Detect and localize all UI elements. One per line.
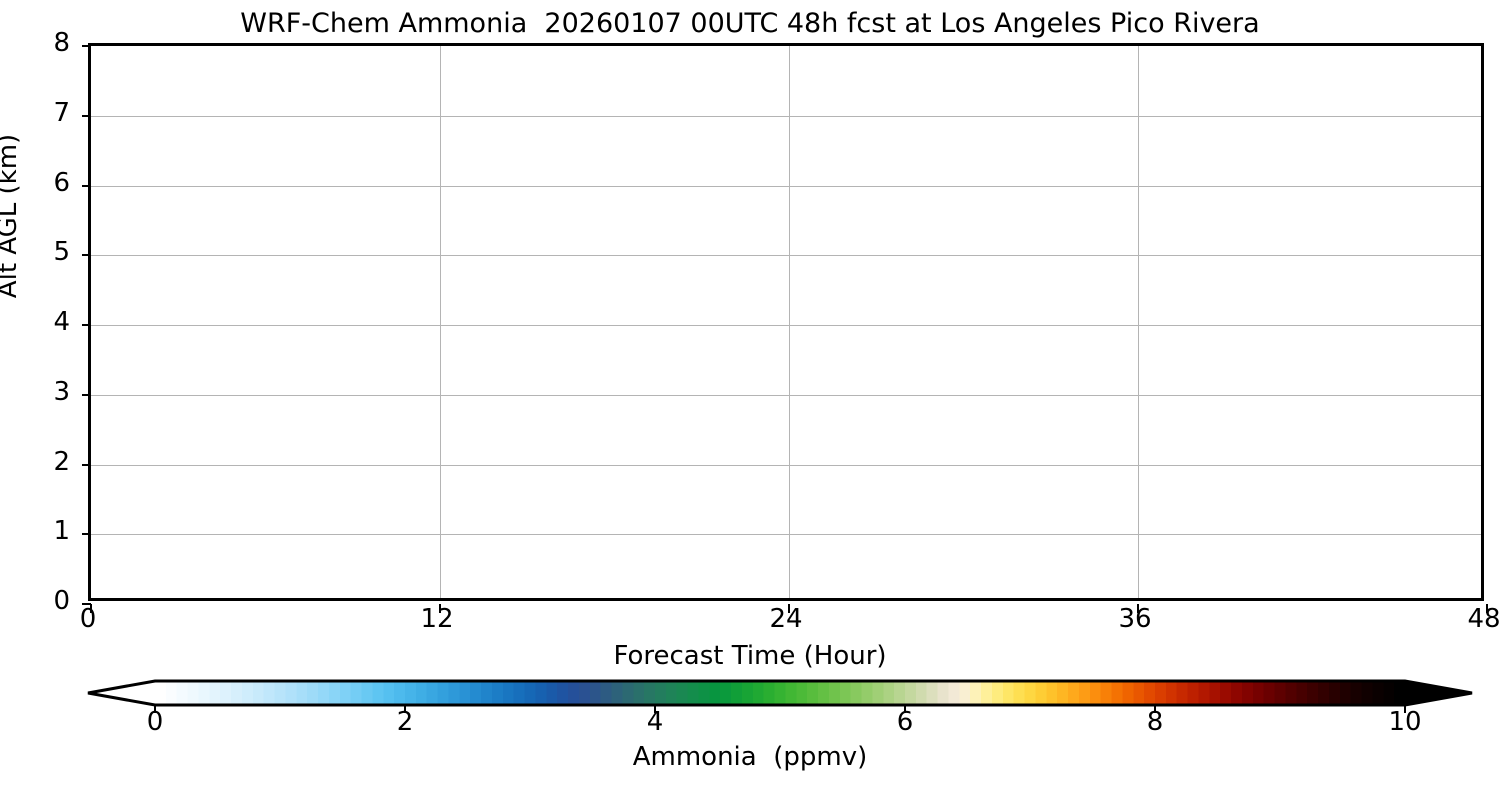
colorbar-band (1220, 681, 1231, 705)
colorbar-band (372, 681, 383, 705)
colorbar-band (568, 681, 579, 705)
colorbar-band (1198, 681, 1209, 705)
colorbar-band (166, 681, 177, 705)
y-tick-mark (82, 533, 91, 535)
colorbar-band (796, 681, 807, 705)
x-tick-label: 24 (736, 606, 836, 632)
colorbar-band (427, 681, 438, 705)
colorbar-band (1231, 681, 1242, 705)
colorbar-band (1296, 681, 1307, 705)
colorbar-extend-low-icon (88, 681, 155, 705)
colorbar-band (1394, 681, 1405, 705)
colorbar-band (612, 681, 623, 705)
colorbar-band (1318, 681, 1329, 705)
colorbar-band (209, 681, 220, 705)
y-tick-mark (82, 45, 91, 47)
colorbar-band (438, 681, 449, 705)
colorbar-band (557, 681, 568, 705)
colorbar-band (514, 681, 525, 705)
colorbar-band (1188, 681, 1199, 705)
colorbar-band (905, 681, 916, 705)
y-tick-mark (82, 464, 91, 466)
colorbar-band (296, 681, 307, 705)
colorbar-band (807, 681, 818, 705)
colorbar-band (622, 681, 633, 705)
x-tick-label: 36 (1085, 606, 1185, 632)
colorbar-band (1101, 681, 1112, 705)
colorbar-tick-label: 2 (355, 709, 455, 735)
colorbar-band (927, 681, 938, 705)
colorbar-band (231, 681, 242, 705)
colorbar-tick-label: 8 (1105, 709, 1205, 735)
colorbar-band (753, 681, 764, 705)
colorbar-band (698, 681, 709, 705)
grid-line-horizontal (91, 325, 1481, 326)
grid-line-horizontal (91, 116, 1481, 117)
colorbar-band (535, 681, 546, 705)
colorbar-band (970, 681, 981, 705)
x-tick-label: 48 (1434, 606, 1500, 632)
colorbar-band (1155, 681, 1166, 705)
colorbar-band (1090, 681, 1101, 705)
colorbar-band (329, 681, 340, 705)
colorbar-band (503, 681, 514, 705)
colorbar-band (405, 681, 416, 705)
colorbar-band (1264, 681, 1275, 705)
colorbar-band (1079, 681, 1090, 705)
y-tick-mark (82, 394, 91, 396)
colorbar-band (492, 681, 503, 705)
colorbar-band (1144, 681, 1155, 705)
x-tick-label: 0 (38, 606, 138, 632)
colorbar-band (1329, 681, 1340, 705)
colorbar-band (1046, 681, 1057, 705)
colorbar-label: Ammonia (ppmv) (0, 743, 1500, 771)
colorbar-band (340, 681, 351, 705)
colorbar-band (470, 681, 481, 705)
colorbar-band (883, 681, 894, 705)
colorbar-band (764, 681, 775, 705)
page-title: WRF-Chem Ammonia 20260107 00UTC 48h fcst… (0, 8, 1500, 40)
colorbar-band (362, 681, 373, 705)
colorbar-tick-label: 10 (1355, 709, 1455, 735)
colorbar-band (938, 681, 949, 705)
colorbar-band (742, 681, 753, 705)
x-axis-label: Forecast Time (Hour) (0, 642, 1500, 670)
colorbar-band (155, 681, 166, 705)
grid-line-vertical (789, 46, 790, 598)
colorbar-tick-label: 4 (605, 709, 705, 735)
colorbar-band (981, 681, 992, 705)
colorbar-band (590, 681, 601, 705)
y-tick-label: 2 (10, 449, 70, 475)
colorbar-band (525, 681, 536, 705)
colorbar-band (644, 681, 655, 705)
colorbar-band (655, 681, 666, 705)
grid-line-horizontal (91, 395, 1481, 396)
figure-canvas: WRF-Chem Ammonia 20260107 00UTC 48h fcst… (0, 0, 1500, 800)
colorbar-band (916, 681, 927, 705)
grid-line-horizontal (91, 186, 1481, 187)
grid-line-vertical (1138, 46, 1139, 598)
y-tick-mark (82, 254, 91, 256)
colorbar-band (285, 681, 296, 705)
colorbar-band (579, 681, 590, 705)
grid-line-horizontal (91, 465, 1481, 466)
x-tick-label: 12 (387, 606, 487, 632)
colorbar-band (1362, 681, 1373, 705)
colorbar-band (177, 681, 188, 705)
grid-lines (91, 46, 1481, 598)
colorbar-band (666, 681, 677, 705)
colorbar-band (1351, 681, 1362, 705)
colorbar-tick-label: 6 (855, 709, 955, 735)
colorbar-band (633, 681, 644, 705)
colorbar: 0246810 Ammonia (ppmv) (0, 673, 1500, 800)
colorbar-band (242, 681, 253, 705)
colorbar-band (416, 681, 427, 705)
colorbar-band (1340, 681, 1351, 705)
y-tick-label: 1 (10, 518, 70, 544)
grid-line-vertical (440, 46, 441, 598)
colorbar-band (1372, 681, 1383, 705)
colorbar-swatch (0, 673, 1500, 713)
colorbar-band (1068, 681, 1079, 705)
colorbar-band (731, 681, 742, 705)
colorbar-band (709, 681, 720, 705)
colorbar-band (862, 681, 873, 705)
y-tick-mark (82, 115, 91, 117)
colorbar-band (1383, 681, 1394, 705)
colorbar-band (253, 681, 264, 705)
colorbar-band (264, 681, 275, 705)
colorbar-band (481, 681, 492, 705)
colorbar-band (1209, 681, 1220, 705)
colorbar-band (818, 681, 829, 705)
colorbar-band (992, 681, 1003, 705)
colorbar-band (1166, 681, 1177, 705)
colorbar-band (720, 681, 731, 705)
grid-line-horizontal (91, 255, 1481, 256)
colorbar-band (851, 681, 862, 705)
colorbar-band (1242, 681, 1253, 705)
y-axis-label: Alt AGL (km) (0, 66, 21, 366)
colorbar-band (1253, 681, 1264, 705)
colorbar-band (394, 681, 405, 705)
colorbar-band (785, 681, 796, 705)
colorbar-band (448, 681, 459, 705)
colorbar-band (220, 681, 231, 705)
colorbar-extend-high-icon (1405, 681, 1472, 705)
colorbar-band (351, 681, 362, 705)
colorbar-band (959, 681, 970, 705)
colorbar-tick-label: 0 (105, 709, 205, 735)
colorbar-band (383, 681, 394, 705)
colorbar-band (459, 681, 470, 705)
colorbar-band (1122, 681, 1133, 705)
colorbar-band (1003, 681, 1014, 705)
colorbar-band (318, 681, 329, 705)
y-tick-mark (82, 324, 91, 326)
colorbar-band (872, 681, 883, 705)
colorbar-band (601, 681, 612, 705)
colorbar-band (1014, 681, 1025, 705)
colorbar-band (1025, 681, 1036, 705)
colorbar-band (1112, 681, 1123, 705)
colorbar-band (1177, 681, 1188, 705)
colorbar-band (188, 681, 199, 705)
colorbar-band (307, 681, 318, 705)
colorbar-band (1275, 681, 1286, 705)
colorbar-band (829, 681, 840, 705)
colorbar-band (894, 681, 905, 705)
colorbar-band (948, 681, 959, 705)
colorbar-band (1285, 681, 1296, 705)
colorbar-band (775, 681, 786, 705)
colorbar-band (840, 681, 851, 705)
colorbar-band (275, 681, 286, 705)
y-tick-label: 3 (10, 379, 70, 405)
y-tick-label: 8 (10, 30, 70, 56)
colorbar-band (198, 681, 209, 705)
grid-line-horizontal (91, 534, 1481, 535)
colorbar-band (1133, 681, 1144, 705)
plot-area (88, 43, 1484, 601)
colorbar-band (677, 681, 688, 705)
colorbar-band (546, 681, 557, 705)
colorbar-band (688, 681, 699, 705)
colorbar-band (1307, 681, 1318, 705)
y-tick-mark (82, 185, 91, 187)
colorbar-band (1035, 681, 1046, 705)
colorbar-band (1057, 681, 1068, 705)
